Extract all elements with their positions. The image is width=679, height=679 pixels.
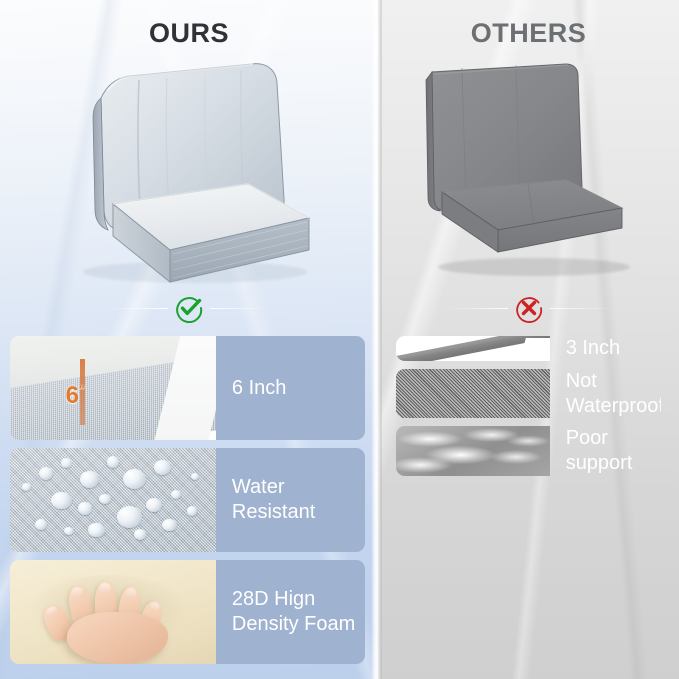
feature-card-not-waterproof: Not Waterproof (396, 369, 661, 419)
divider-line-left (106, 308, 168, 309)
ours-verdict-row (0, 293, 378, 323)
others-panel: OTHERS (378, 0, 679, 679)
comparison-infographic: OURS (0, 0, 679, 679)
cross-circle-icon (514, 293, 544, 323)
feature-card-poor-support: Poor support (396, 426, 661, 476)
ours-panel: OURS (0, 0, 378, 679)
feature-label-water-resistant: Water Resistant (216, 448, 365, 552)
ours-heading: OURS (0, 18, 378, 49)
others-heading: OTHERS (378, 18, 679, 49)
divider-line-left (446, 308, 508, 309)
feature-card-thickness: 6″ 6 Inch (10, 336, 365, 440)
ours-feature-list: 6″ 6 Inch (10, 336, 365, 672)
feature-label-thickness: 3 Inch (550, 336, 661, 361)
feature-card-water-resistant: Water Resistant (10, 448, 365, 552)
divider-line-right (550, 308, 612, 309)
thin-cushion-photo (396, 336, 550, 361)
feature-label-poor-support: Poor support (550, 426, 661, 476)
feature-label-thickness: 6 Inch (216, 336, 365, 440)
thickness-badge: 6″ (66, 382, 85, 410)
others-hero-image (416, 62, 644, 284)
feature-card-thickness: 3 Inch (396, 336, 661, 361)
loose-fiber-fill-photo (396, 426, 550, 476)
hand-pressing-foam-photo (10, 560, 216, 664)
feature-label-not-waterproof: Not Waterproof (550, 369, 661, 419)
water-droplets-fabric-photo (10, 448, 216, 552)
cushion-thickness-photo: 6″ (10, 336, 216, 440)
check-circle-icon (174, 293, 204, 323)
feature-label-foam-density: 28D Hign Density Foam (216, 560, 365, 664)
ours-hero-image (55, 58, 320, 288)
divider-line-right (210, 308, 272, 309)
mesh-fabric-photo (396, 369, 550, 419)
feature-card-foam-density: 28D Hign Density Foam (10, 560, 365, 664)
others-verdict-row (378, 293, 679, 323)
others-feature-list: 3 Inch Not Waterproof Poor support (396, 336, 661, 484)
